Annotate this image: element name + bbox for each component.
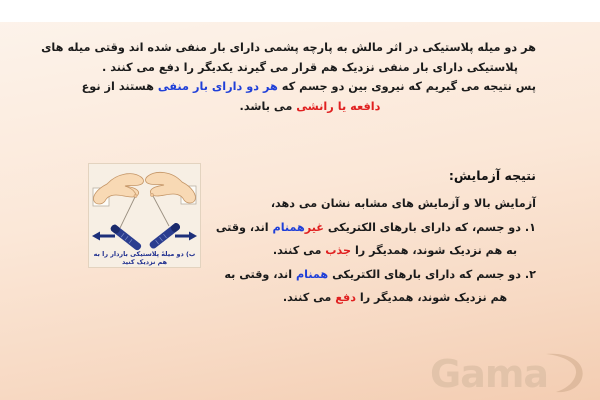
- item1-line2-suffix: می کنند.: [273, 244, 325, 257]
- watermark-swoosh-icon: [542, 350, 590, 396]
- figure-caption-line-1: ب) دو میلهٔ پلاستیکی باردار را به: [89, 250, 200, 258]
- item2-line2-suffix: می کنند.: [283, 291, 335, 304]
- result-heading-text: نتیجه آزمایش:: [449, 168, 536, 183]
- paragraph-line-2-text: پلاستیکی دارای بار منفی نزدیک هم قرار می…: [102, 61, 518, 74]
- item2-line2-prefix: هم نزدیک شوند، همدیگر را: [356, 291, 507, 304]
- result-intro-line: آزمایش بالا و آزمایش های مشابه نشان می د…: [246, 192, 536, 216]
- figure-caption: ب) دو میلهٔ پلاستیکی باردار را به هم نزد…: [89, 250, 200, 266]
- item1-highlight-attract: جذب: [325, 244, 351, 257]
- experiment-figure: ب) دو میلهٔ پلاستیکی باردار را به هم نزد…: [88, 163, 201, 268]
- result-heading: نتیجه آزمایش:: [449, 168, 536, 183]
- paragraph-line-1-text: هر دو میله پلاستیکی در اثر مالش به پارچه…: [41, 41, 536, 54]
- gama-watermark: Gama: [430, 352, 590, 396]
- item1-line2-prefix: به هم نزدیک شوند، همدیگر را: [351, 244, 517, 257]
- item2-highlight-repel: دفع: [335, 291, 356, 304]
- paragraph-line-1: هر دو میله پلاستیکی در اثر مالش به پارچه…: [84, 38, 536, 58]
- paragraph-line-3: پس نتیجه می گیریم که نیروی بین دو جسم که…: [84, 77, 536, 97]
- result-intro-text: آزمایش بالا و آزمایش های مشابه نشان می د…: [271, 197, 536, 210]
- paragraph-line-3-suffix: هستند از نوع: [82, 80, 158, 93]
- result-list: آزمایش بالا و آزمایش های مشابه نشان می د…: [246, 192, 536, 310]
- highlight-negative-charge: هر دو دارای بار منفی: [158, 80, 278, 93]
- item2-line1-prefix: ۲. دو جسم که دارای بارهای الکتریکی: [328, 268, 536, 281]
- item2-highlight-hamnam: همنام: [296, 268, 328, 281]
- highlight-repulsive-force: دافعه یا رانشی: [296, 100, 380, 113]
- item1-highlight-hamnam: همنام: [273, 221, 305, 234]
- top-white-band: [0, 0, 600, 22]
- item1-highlight-gheyr: غیر: [305, 221, 324, 234]
- figure-caption-line-2: هم نزدیک کنید: [89, 258, 200, 266]
- paragraph-line-4-suffix: می باشد.: [240, 100, 297, 113]
- paragraph-line-4: دافعه یا رانشی می باشد.: [84, 97, 536, 117]
- item1-line1-suffix: اند، وقتی: [216, 221, 273, 234]
- item2-line1-suffix: اند، وقتی به: [224, 268, 296, 281]
- paragraph-line-2: پلاستیکی دارای بار منفی نزدیک هم قرار می…: [84, 58, 536, 78]
- watermark-text: Gama: [430, 352, 548, 396]
- list-item: هم نزدیک شوند، همدیگر را دفع می کنند.: [246, 286, 536, 310]
- intro-paragraph: هر دو میله پلاستیکی در اثر مالش به پارچه…: [84, 38, 536, 116]
- list-item: ۱. دو جسم، که دارای بارهای الکتریکی غیره…: [246, 216, 536, 240]
- list-item: ۲. دو جسم که دارای بارهای الکتریکی همنام…: [246, 263, 536, 287]
- paragraph-line-3-prefix: پس نتیجه می گیریم که نیروی بین دو جسم که: [278, 80, 536, 93]
- slide-canvas: هر دو میله پلاستیکی در اثر مالش به پارچه…: [0, 0, 600, 400]
- item1-line1-prefix: ۱. دو جسم، که دارای بارهای الکتریکی: [324, 221, 536, 234]
- list-item: به هم نزدیک شوند، همدیگر را جذب می کنند.: [246, 239, 536, 263]
